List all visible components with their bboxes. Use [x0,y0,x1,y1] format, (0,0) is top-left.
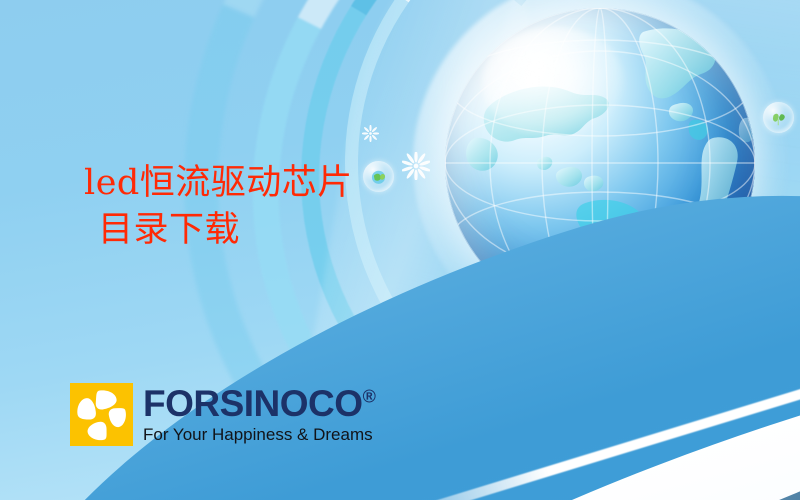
bubble-plant [763,102,794,133]
headline-line-2: 目录下载 [84,207,353,254]
bubble-plant-inner-icon [763,102,794,133]
headline: led恒流驱动芯片 目录下载 [84,160,353,255]
bubble-leaf [492,326,535,369]
globe-specular-highlight [482,27,625,139]
company-logo: FORSINOCO® For Your Happiness & Dreams [70,383,375,446]
bubble-globe [363,161,394,192]
headline-line-1: led恒流驱动芯片 [84,160,353,207]
logo-company-name: FORSINOCO® [143,385,375,422]
logo-tagline: For Your Happiness & Dreams [143,425,375,445]
logo-text: FORSINOCO® For Your Happiness & Dreams [143,385,375,445]
registered-trademark-icon: ® [363,386,376,406]
logo-company-name-text: FORSINOCO [143,383,363,424]
logo-mark [70,383,133,446]
promo-banner: led恒流驱动芯片 目录下载 FORSINOCO® For Your Happi… [0,0,800,500]
bubble-leaf-inner-icon [492,326,535,369]
four-petal-pinwheel-icon [70,383,133,446]
bubble-globe-inner-icon [363,161,394,192]
